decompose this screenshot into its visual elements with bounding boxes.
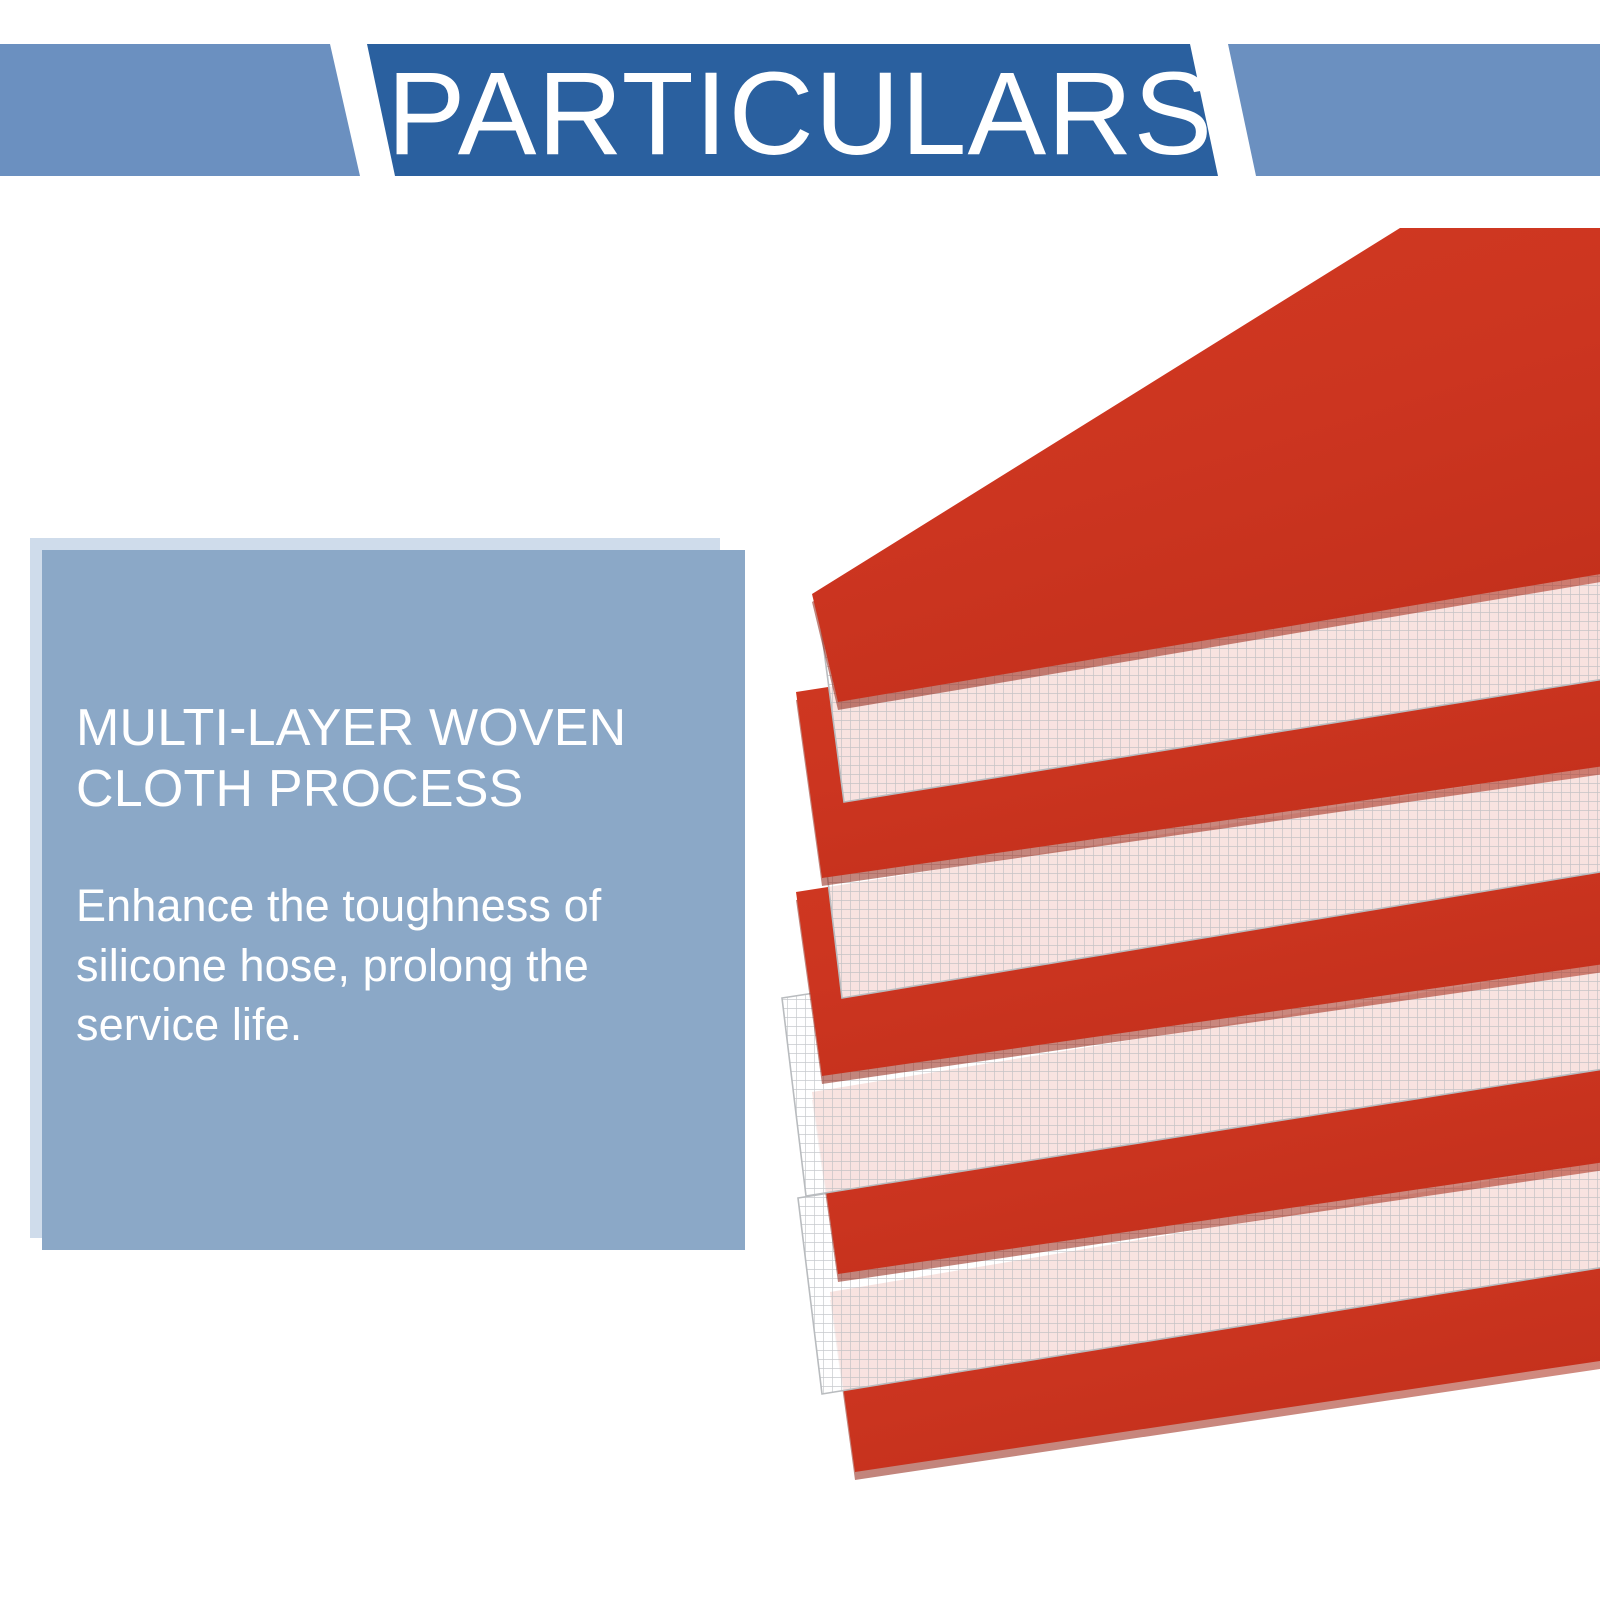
info-card-content: MULTI-LAYER WOVEN CLOTH PROCESS Enhance …: [42, 550, 745, 1250]
header-left-band: [0, 44, 360, 176]
header-banner-shapes: [0, 0, 1600, 200]
layer-stack-illustration: [760, 180, 1600, 1480]
header-banner: PARTICULARS: [0, 0, 1600, 200]
info-card: MULTI-LAYER WOVEN CLOTH PROCESS Enhance …: [30, 525, 748, 1255]
infographic-page: PARTICULARS MULTI-LAYER WOVEN CLOTH PROC…: [0, 0, 1600, 1600]
header-right-band: [1228, 44, 1600, 176]
info-card-headline: MULTI-LAYER WOVEN CLOTH PROCESS: [76, 698, 701, 820]
info-card-body-text: Enhance the toughness of silicone hose, …: [76, 876, 701, 1056]
header-center-banner: [367, 44, 1218, 176]
layer-stack-svg: [760, 180, 1600, 1480]
